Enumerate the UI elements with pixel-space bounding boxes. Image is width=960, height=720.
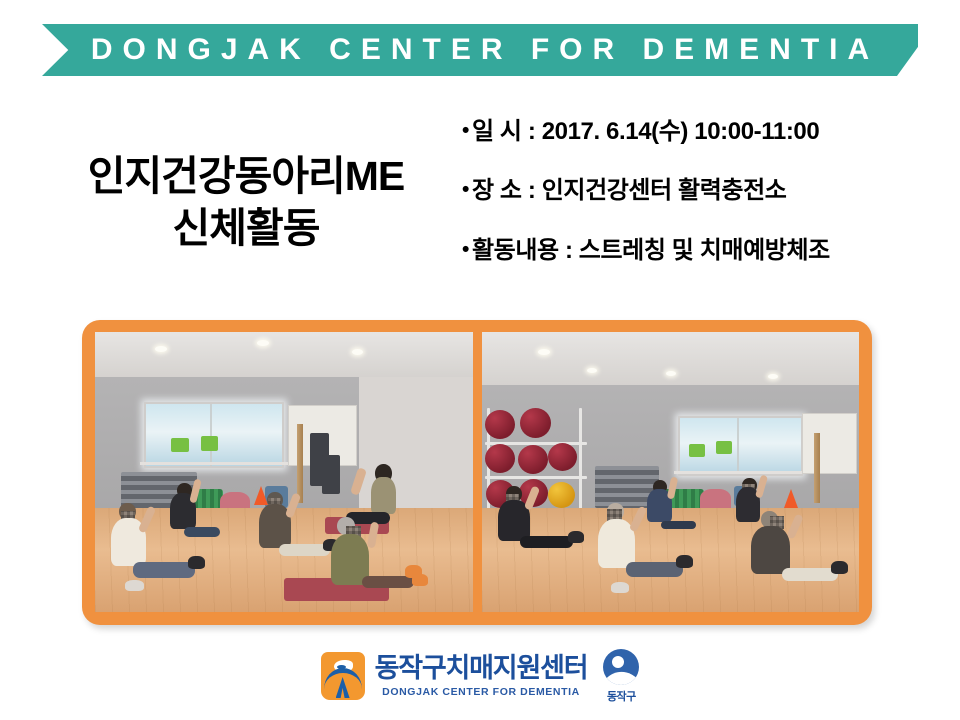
gym-ball [485,410,515,439]
shoe [831,561,848,574]
arm [138,506,156,534]
green-bag [716,441,732,454]
photo-left [95,332,473,612]
projection-screen [802,413,857,474]
footer-logo: 동작구치매지원센터 DONGJAK CENTER FOR DEMENTIA 동작… [0,644,960,708]
shoe [568,531,584,543]
shoe [188,556,205,569]
ceiling [482,332,860,385]
legs [782,568,838,581]
ceiling [95,332,473,377]
arm [523,485,539,510]
window-sill [140,462,287,465]
district-emblem-icon [603,649,639,685]
legs [362,576,414,589]
torso [371,477,395,514]
info-list: • 일 시 : 2017. 6.14(수) 10:00-11:00 • 장 소 … [462,118,932,296]
legs [133,562,196,578]
program-title-line-2: 신체활동 [46,202,446,254]
person-participant [633,480,716,547]
bullet-icon: • [462,237,469,264]
legs [520,536,573,548]
bullet-icon: • [462,118,469,145]
arm [755,474,768,498]
window [144,402,284,468]
gym-ball [485,444,515,473]
shoe [676,555,693,568]
person-participant [485,486,591,564]
person-participant [322,517,435,607]
shoe [412,574,428,586]
program-title: 인지건강동아리ME 신체활동 [46,150,446,255]
arm [350,467,367,495]
logo-text-block: 동작구치매지원센터 DONGJAK CENTER FOR DEMENTIA [375,655,588,698]
photo-frame [82,320,872,625]
info-item-datetime: • 일 시 : 2017. 6.14(수) 10:00-11:00 [462,118,932,146]
info-item-activity: • 활동내용 : 스트레칭 및 치매예방체조 [462,237,932,265]
logo-name-english: DONGJAK CENTER FOR DEMENTIA [382,687,580,698]
ceiling-light-icon [538,349,550,355]
legs [626,562,683,577]
dark-equipment [322,455,341,494]
window-sill [674,471,802,474]
green-bag [689,444,705,457]
arm [667,477,678,500]
center-logo-icon [321,652,365,700]
person-participant [155,483,238,556]
page-title: DONGJAK CENTER FOR DEMENTIA [42,24,918,76]
shoe [611,582,629,593]
district-emblem: 동작구 [603,649,639,704]
photo-right [482,332,860,612]
gym-ball [518,445,548,474]
program-title-line-1: 인지건강동아리ME [46,150,446,202]
header-banner: DONGJAK CENTER FOR DEMENTIA [42,24,918,76]
arm [786,513,803,539]
arm [367,522,379,549]
info-item-datetime-text: 일 시 : 2017. 6.14(수) 10:00-11:00 [472,118,819,146]
logo-name-korean: 동작구치매지원센터 [375,655,588,682]
green-bag [201,436,218,451]
info-item-location: • 장 소 : 인지건강센터 활력충전소 [462,177,932,205]
info-item-location-text: 장 소 : 인지건강센터 활력충전소 [472,177,787,205]
wood-pole [814,433,820,503]
torso [751,526,790,574]
person-participant [742,511,859,598]
gym-ball [548,443,577,471]
arm [285,493,301,519]
bullet-icon: • [462,177,469,204]
gym-ball [520,408,551,438]
green-bag [171,438,189,452]
ceiling-light-icon [352,349,363,355]
info-item-activity-text: 활동내용 : 스트레칭 및 치매예방체조 [472,237,830,265]
shoe [125,580,144,591]
legs [661,521,696,530]
district-label: 동작구 [607,688,636,704]
legs [184,527,221,537]
